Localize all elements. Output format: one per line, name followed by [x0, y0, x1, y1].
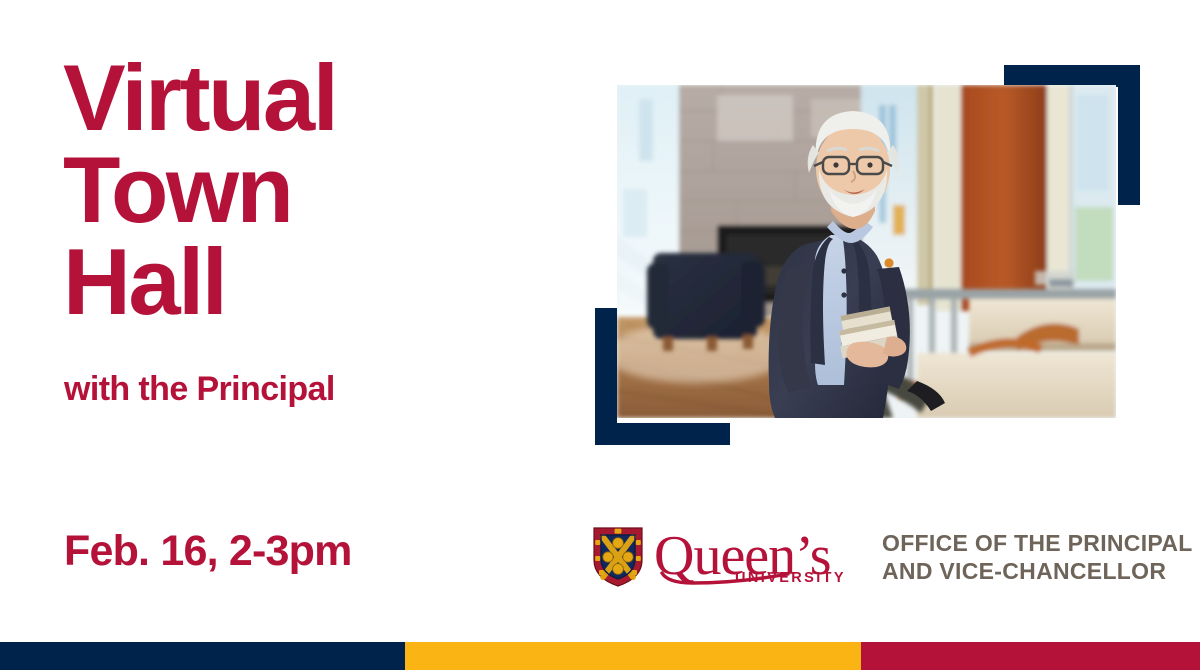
office-title: OFFICE OF THE PRINCIPAL AND VICE-CHANCEL… — [882, 529, 1193, 585]
queens-logo-lockup: Queen’s UNIVERSITY OFFICE OF THE PRINCIP… — [592, 522, 1193, 592]
bracket-top-right-vertical — [1118, 65, 1140, 205]
headline-line-2: Town — [63, 144, 533, 236]
subtitle: with the Principal — [64, 370, 335, 409]
virtual-town-hall-poster: Virtual Town Hall with the Principal Feb… — [0, 0, 1200, 670]
queens-wordmark: Queen’s UNIVERSITY — [654, 526, 844, 588]
principal-portrait-photo — [617, 85, 1116, 418]
bracket-bottom-left-horizontal — [595, 423, 730, 445]
office-title-line-1: OFFICE OF THE PRINCIPAL — [882, 529, 1193, 557]
brand-color-bar — [0, 642, 1200, 670]
headline-line-3: Hall — [63, 236, 533, 328]
brand-bar-segment-gold — [405, 642, 861, 670]
queens-shield-icon — [592, 526, 644, 588]
queens-university-text: UNIVERSITY — [735, 570, 846, 586]
brand-bar-segment-red — [861, 642, 1200, 670]
page-title: Virtual Town Hall — [63, 52, 533, 328]
office-title-line-2: AND VICE-CHANCELLOR — [882, 557, 1193, 585]
photo-composition — [560, 40, 1180, 460]
headline-line-1: Virtual — [63, 52, 533, 144]
event-datetime: Feb. 16, 2-3pm — [64, 527, 352, 576]
brand-bar-segment-navy — [0, 642, 405, 670]
